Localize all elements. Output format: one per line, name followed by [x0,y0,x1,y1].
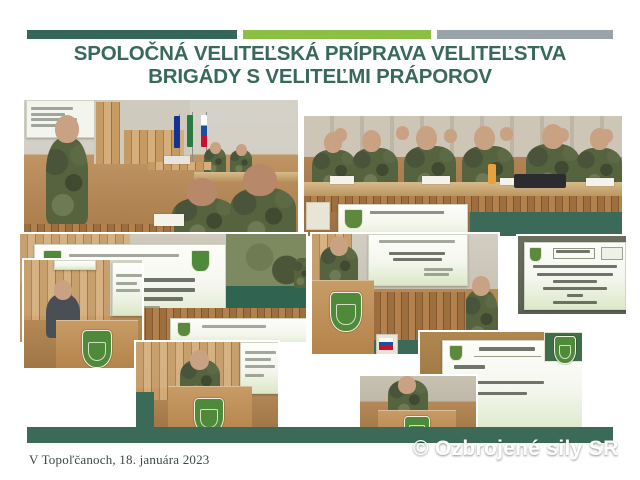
slide-title-line-2: BRIGÁDY S VELITEĽMI PRÁPOROV [0,65,640,88]
slide-caption: V Topoľčanoch, 18. januára 2023 [29,452,210,468]
photo-slide-pocunie [516,234,628,316]
photo-collage [0,92,640,442]
accent-bar-gray [437,30,613,39]
slide-title-line-1: SPOLOČNÁ VELITEĽSKÁ PRÍPRAVA VELITEĽSTVA [0,42,640,65]
photo-officer-briefing [22,98,300,238]
slide-title: SPOLOČNÁ VELITEĽSKÁ PRÍPRAVA VELITEĽSTVA… [0,42,640,88]
accent-bar-dark-green [27,30,237,39]
presentation-slide: SPOLOČNÁ VELITEĽSKÁ PRÍPRAVA VELITEĽSTVA… [0,0,640,480]
accent-bar-light-green [243,30,431,39]
photo-audience-taking-notes [302,114,624,238]
photo-speaker-podium-civil [22,258,144,370]
accent-bar-group [27,30,613,39]
bottom-accent-bar [27,427,613,443]
photo-speaker-podium-officer [134,340,280,436]
